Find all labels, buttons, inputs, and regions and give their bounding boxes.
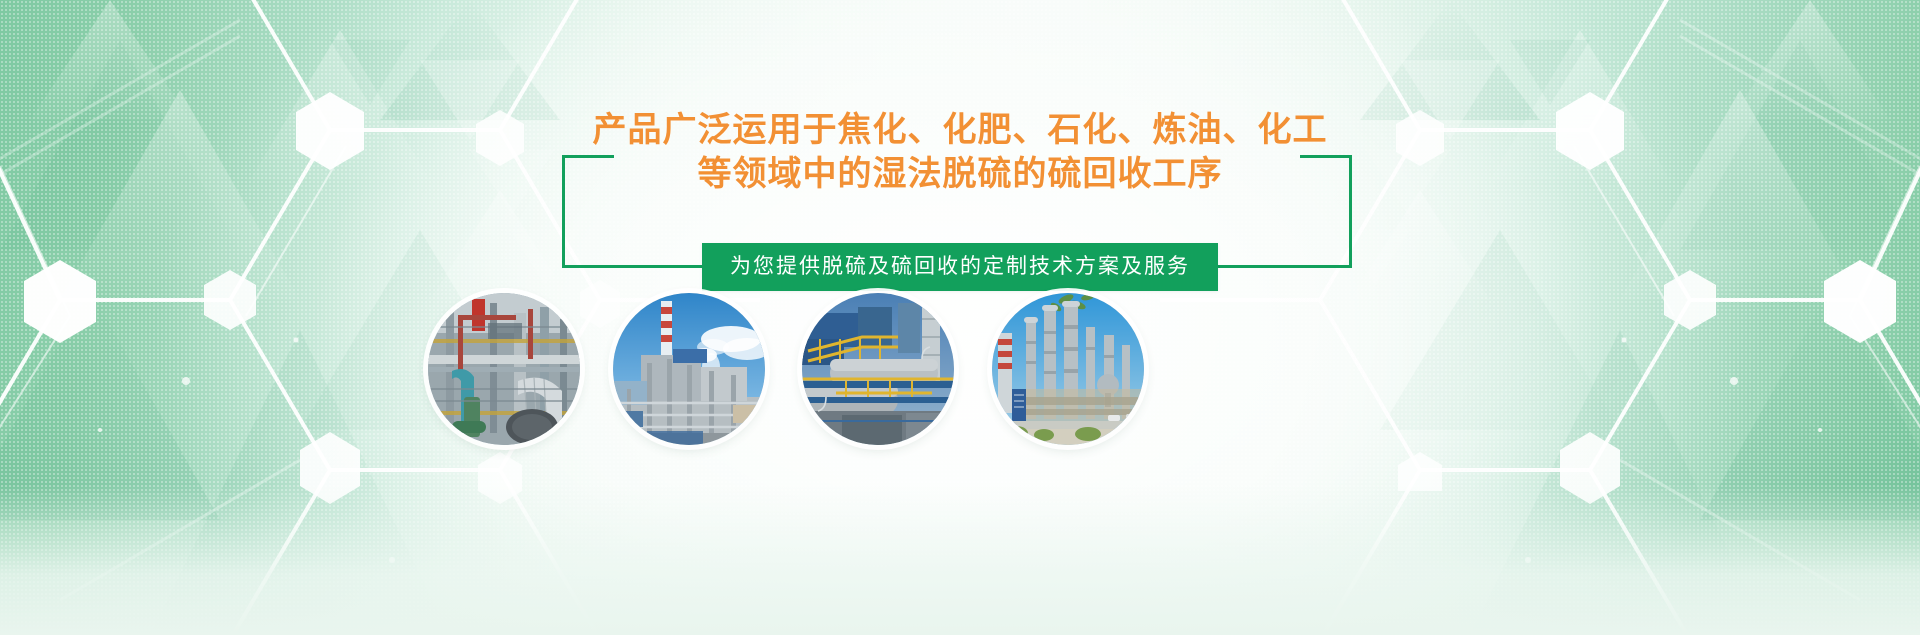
photo-strip (0, 293, 1920, 453)
photo-pressure-vessel-skid[interactable] (802, 293, 954, 445)
banner-stage: 产品广泛运用于焦化、化肥、石化、炼油、化工 等领域中的湿法脱硫的硫回收工序 为您… (0, 0, 1920, 635)
photo-desulfurization-piping-plant[interactable] (428, 293, 580, 445)
photo-refinery-distillation-columns[interactable] (992, 293, 1144, 445)
photo-sulfur-recovery-stack-plant[interactable] (613, 293, 765, 445)
